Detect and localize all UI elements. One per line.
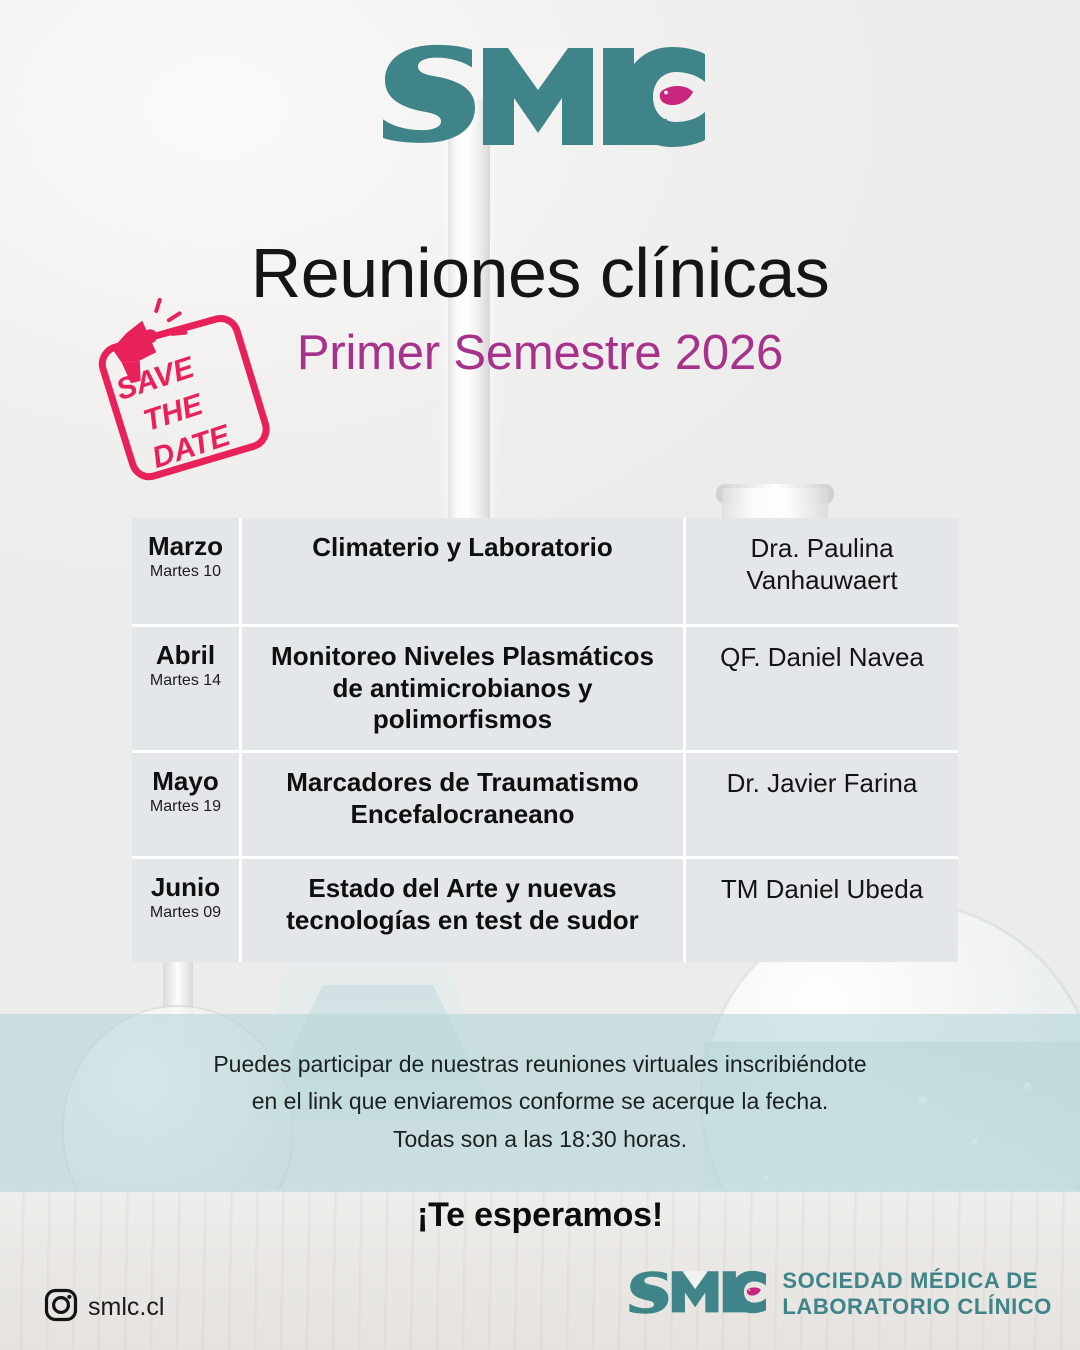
table-row: Junio Martes 09 Estado del Arte y nuevas… xyxy=(132,856,958,962)
cell-topic: Estado del Arte y nuevas tecnologías en … xyxy=(242,859,686,962)
cell-speaker: TM Daniel Ubeda xyxy=(686,859,958,962)
smlc-logo-mark-footer xyxy=(626,1268,766,1319)
droplet-accent-icon-footer xyxy=(747,1288,761,1296)
month-label: Junio xyxy=(151,873,220,902)
month-label: Abril xyxy=(156,641,215,670)
day-label: Martes 09 xyxy=(150,904,221,922)
droplet-accent-icon xyxy=(660,86,693,105)
title-block: Reuniones clínicas Primer Semestre 2026 xyxy=(0,238,1080,381)
topic-label: Estado del Arte y nuevas tecnologías en … xyxy=(260,873,665,936)
topic-label: Marcadores de Traumatismo Encefalocranea… xyxy=(260,767,665,830)
topic-label: Climaterio y Laboratorio xyxy=(312,532,613,564)
table-row: Abril Martes 14 Monitoreo Niveles Plasmá… xyxy=(132,624,958,750)
day-label: Martes 10 xyxy=(150,563,221,581)
instagram-handle-label[interactable]: smlc.cl xyxy=(88,1293,164,1322)
org-name-line-2: LABORATORIO CLÍNICO xyxy=(782,1294,1052,1320)
smlc-logo-footer: SOCIEDAD MÉDICA DE LABORATORIO CLÍNICO xyxy=(626,1268,1052,1320)
smlc-logo-mark xyxy=(375,42,705,147)
speaker-label: Dr. Javier Farina xyxy=(727,767,918,799)
cell-date: Junio Martes 09 xyxy=(132,859,242,962)
table-row: Marzo Martes 10 Climaterio y Laboratorio… xyxy=(132,518,958,624)
instagram-handle-group[interactable]: smlc.cl xyxy=(44,1288,164,1327)
speaker-label: Dra. Paulina Vanhauwaert xyxy=(696,532,948,596)
page-title: Reuniones clínicas xyxy=(0,238,1080,309)
cell-speaker: QF. Daniel Navea xyxy=(686,627,958,750)
day-label: Martes 14 xyxy=(150,672,221,690)
schedule-table: Marzo Martes 10 Climaterio y Laboratorio… xyxy=(132,518,958,962)
month-label: Marzo xyxy=(148,532,223,561)
poster-canvas: SAVE THE DATE Reuniones clínicas Primer … xyxy=(0,0,1080,1350)
cell-date: Abril Martes 14 xyxy=(132,627,242,750)
day-label: Martes 19 xyxy=(150,798,221,816)
month-label: Mayo xyxy=(152,767,218,796)
table-row: Mayo Martes 19 Marcadores de Traumatismo… xyxy=(132,750,958,856)
speaker-label: TM Daniel Ubeda xyxy=(721,873,923,905)
cell-date: Mayo Martes 19 xyxy=(132,753,242,856)
cell-topic: Monitoreo Niveles Plasmáticos de antimic… xyxy=(242,627,686,750)
cell-speaker: Dr. Javier Farina xyxy=(686,753,958,856)
smlc-logo-header xyxy=(0,42,1080,147)
note-line-2: en el link que enviaremos conforme se ac… xyxy=(0,1083,1080,1120)
participation-note: Puedes participar de nuestras reuniones … xyxy=(0,1046,1080,1158)
topic-label: Monitoreo Niveles Plasmáticos de antimic… xyxy=(260,641,665,736)
speaker-label: QF. Daniel Navea xyxy=(720,641,924,673)
note-line-3: Todas son a las 18:30 horas. xyxy=(0,1121,1080,1158)
cell-topic: Marcadores de Traumatismo Encefalocranea… xyxy=(242,753,686,856)
cell-topic: Climaterio y Laboratorio xyxy=(242,518,686,624)
org-name-line-1: SOCIEDAD MÉDICA DE xyxy=(782,1268,1052,1294)
note-line-1: Puedes participar de nuestras reuniones … xyxy=(0,1046,1080,1083)
page-subtitle: Primer Semestre 2026 xyxy=(0,325,1080,381)
closing-message: ¡Te esperamos! xyxy=(0,1196,1080,1235)
cell-speaker: Dra. Paulina Vanhauwaert xyxy=(686,518,958,624)
instagram-icon[interactable] xyxy=(44,1288,78,1327)
org-name: SOCIEDAD MÉDICA DE LABORATORIO CLÍNICO xyxy=(782,1268,1052,1320)
cell-date: Marzo Martes 10 xyxy=(132,518,242,624)
